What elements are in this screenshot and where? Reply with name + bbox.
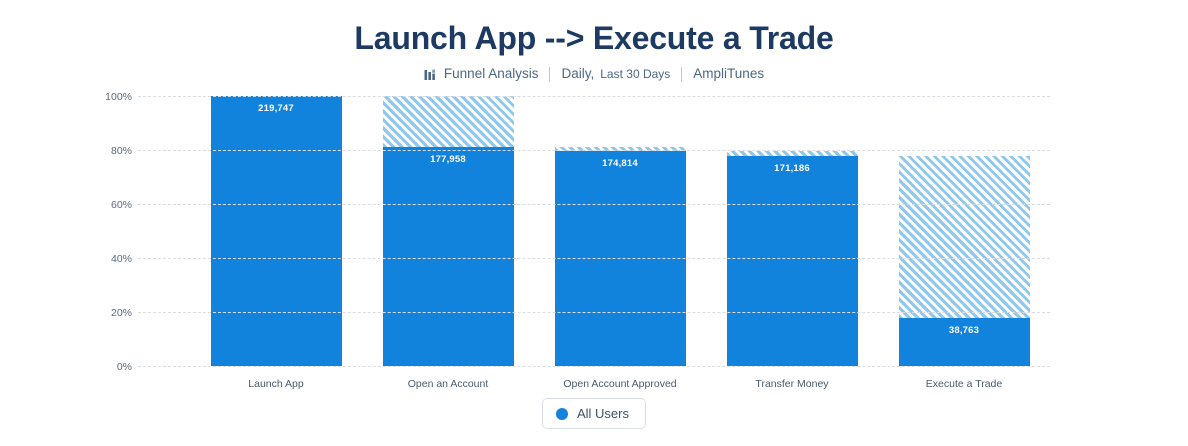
bar-value-label: 174,814 [555, 158, 686, 169]
gridline: 60% [138, 204, 1050, 205]
bar-group[interactable]: 38,763 [899, 96, 1030, 366]
x-axis-tick-label: Transfer Money [706, 378, 878, 390]
subtitle-analysis-label: Funnel Analysis [444, 65, 539, 83]
page-title: Launch App --> Execute a Trade [0, 18, 1188, 58]
x-axis-tick-label: Open Account Approved [534, 378, 706, 390]
bar-group[interactable]: 171,186 [727, 96, 858, 366]
gridline: 80% [138, 150, 1050, 151]
bar-value-label: 38,763 [899, 325, 1030, 336]
bar-value-label: 219,747 [211, 103, 342, 114]
bar-value-label: 177,958 [383, 154, 514, 165]
gridline: 0% [138, 366, 1050, 367]
y-axis-tick-label: 80% [111, 145, 132, 157]
legend-item-all-users[interactable]: All Users [542, 398, 646, 429]
gridline: 20% [138, 312, 1050, 313]
funnel-chart-page: Launch App --> Execute a Trade Funnel An… [0, 0, 1188, 446]
gridline: 100% [138, 96, 1050, 97]
y-axis-tick-label: 20% [111, 307, 132, 319]
chart-subtitle: Funnel Analysis Daily, Last 30 Days Ampl… [0, 65, 1188, 83]
bar-segment[interactable] [383, 147, 514, 366]
x-axis-tick-label: Execute a Trade [878, 378, 1050, 390]
bar-value-label: 171,186 [727, 163, 858, 174]
subtitle-project-label: AmpliTunes [693, 65, 764, 83]
subtitle-interval-label: Daily, [561, 65, 594, 83]
chart-legend: All Users [0, 398, 1188, 429]
gridline: 40% [138, 258, 1050, 259]
subtitle-range-label: Last 30 Days [600, 65, 670, 83]
subtitle-date-range[interactable]: Daily, Last 30 Days [550, 65, 681, 83]
bar-group[interactable]: 177,958 [383, 96, 514, 366]
x-axis-tick-label: Launch App [190, 378, 362, 390]
bar-group[interactable]: 174,814 [555, 96, 686, 366]
chart-plot-area: 219,747Launch App177,958Open an Account1… [0, 96, 1188, 386]
x-axis-tick-label: Open an Account [362, 378, 534, 390]
chart-axes: 219,747Launch App177,958Open an Account1… [138, 96, 1050, 376]
legend-color-swatch [556, 408, 568, 420]
subtitle-project[interactable]: AmpliTunes [682, 65, 775, 83]
y-axis-tick-label: 40% [111, 253, 132, 265]
y-axis-tick-label: 0% [117, 361, 132, 373]
bar-dropoff-region[interactable] [899, 156, 1030, 319]
bar-segment[interactable] [727, 156, 858, 366]
chart-header: Launch App --> Execute a Trade Funnel An… [0, 18, 1188, 83]
chart-bars: 219,747Launch App177,958Open an Account1… [190, 96, 1050, 366]
funnel-analysis-icon [424, 68, 438, 82]
bar-segment[interactable] [211, 96, 342, 366]
y-axis-tick-label: 60% [111, 199, 132, 211]
subtitle-analysis-type[interactable]: Funnel Analysis [413, 65, 550, 83]
legend-item-label: All Users [577, 406, 629, 421]
bar-group[interactable]: 219,747 [211, 96, 342, 366]
y-axis-tick-label: 100% [105, 91, 132, 103]
bar-dropoff-region[interactable] [383, 96, 514, 147]
